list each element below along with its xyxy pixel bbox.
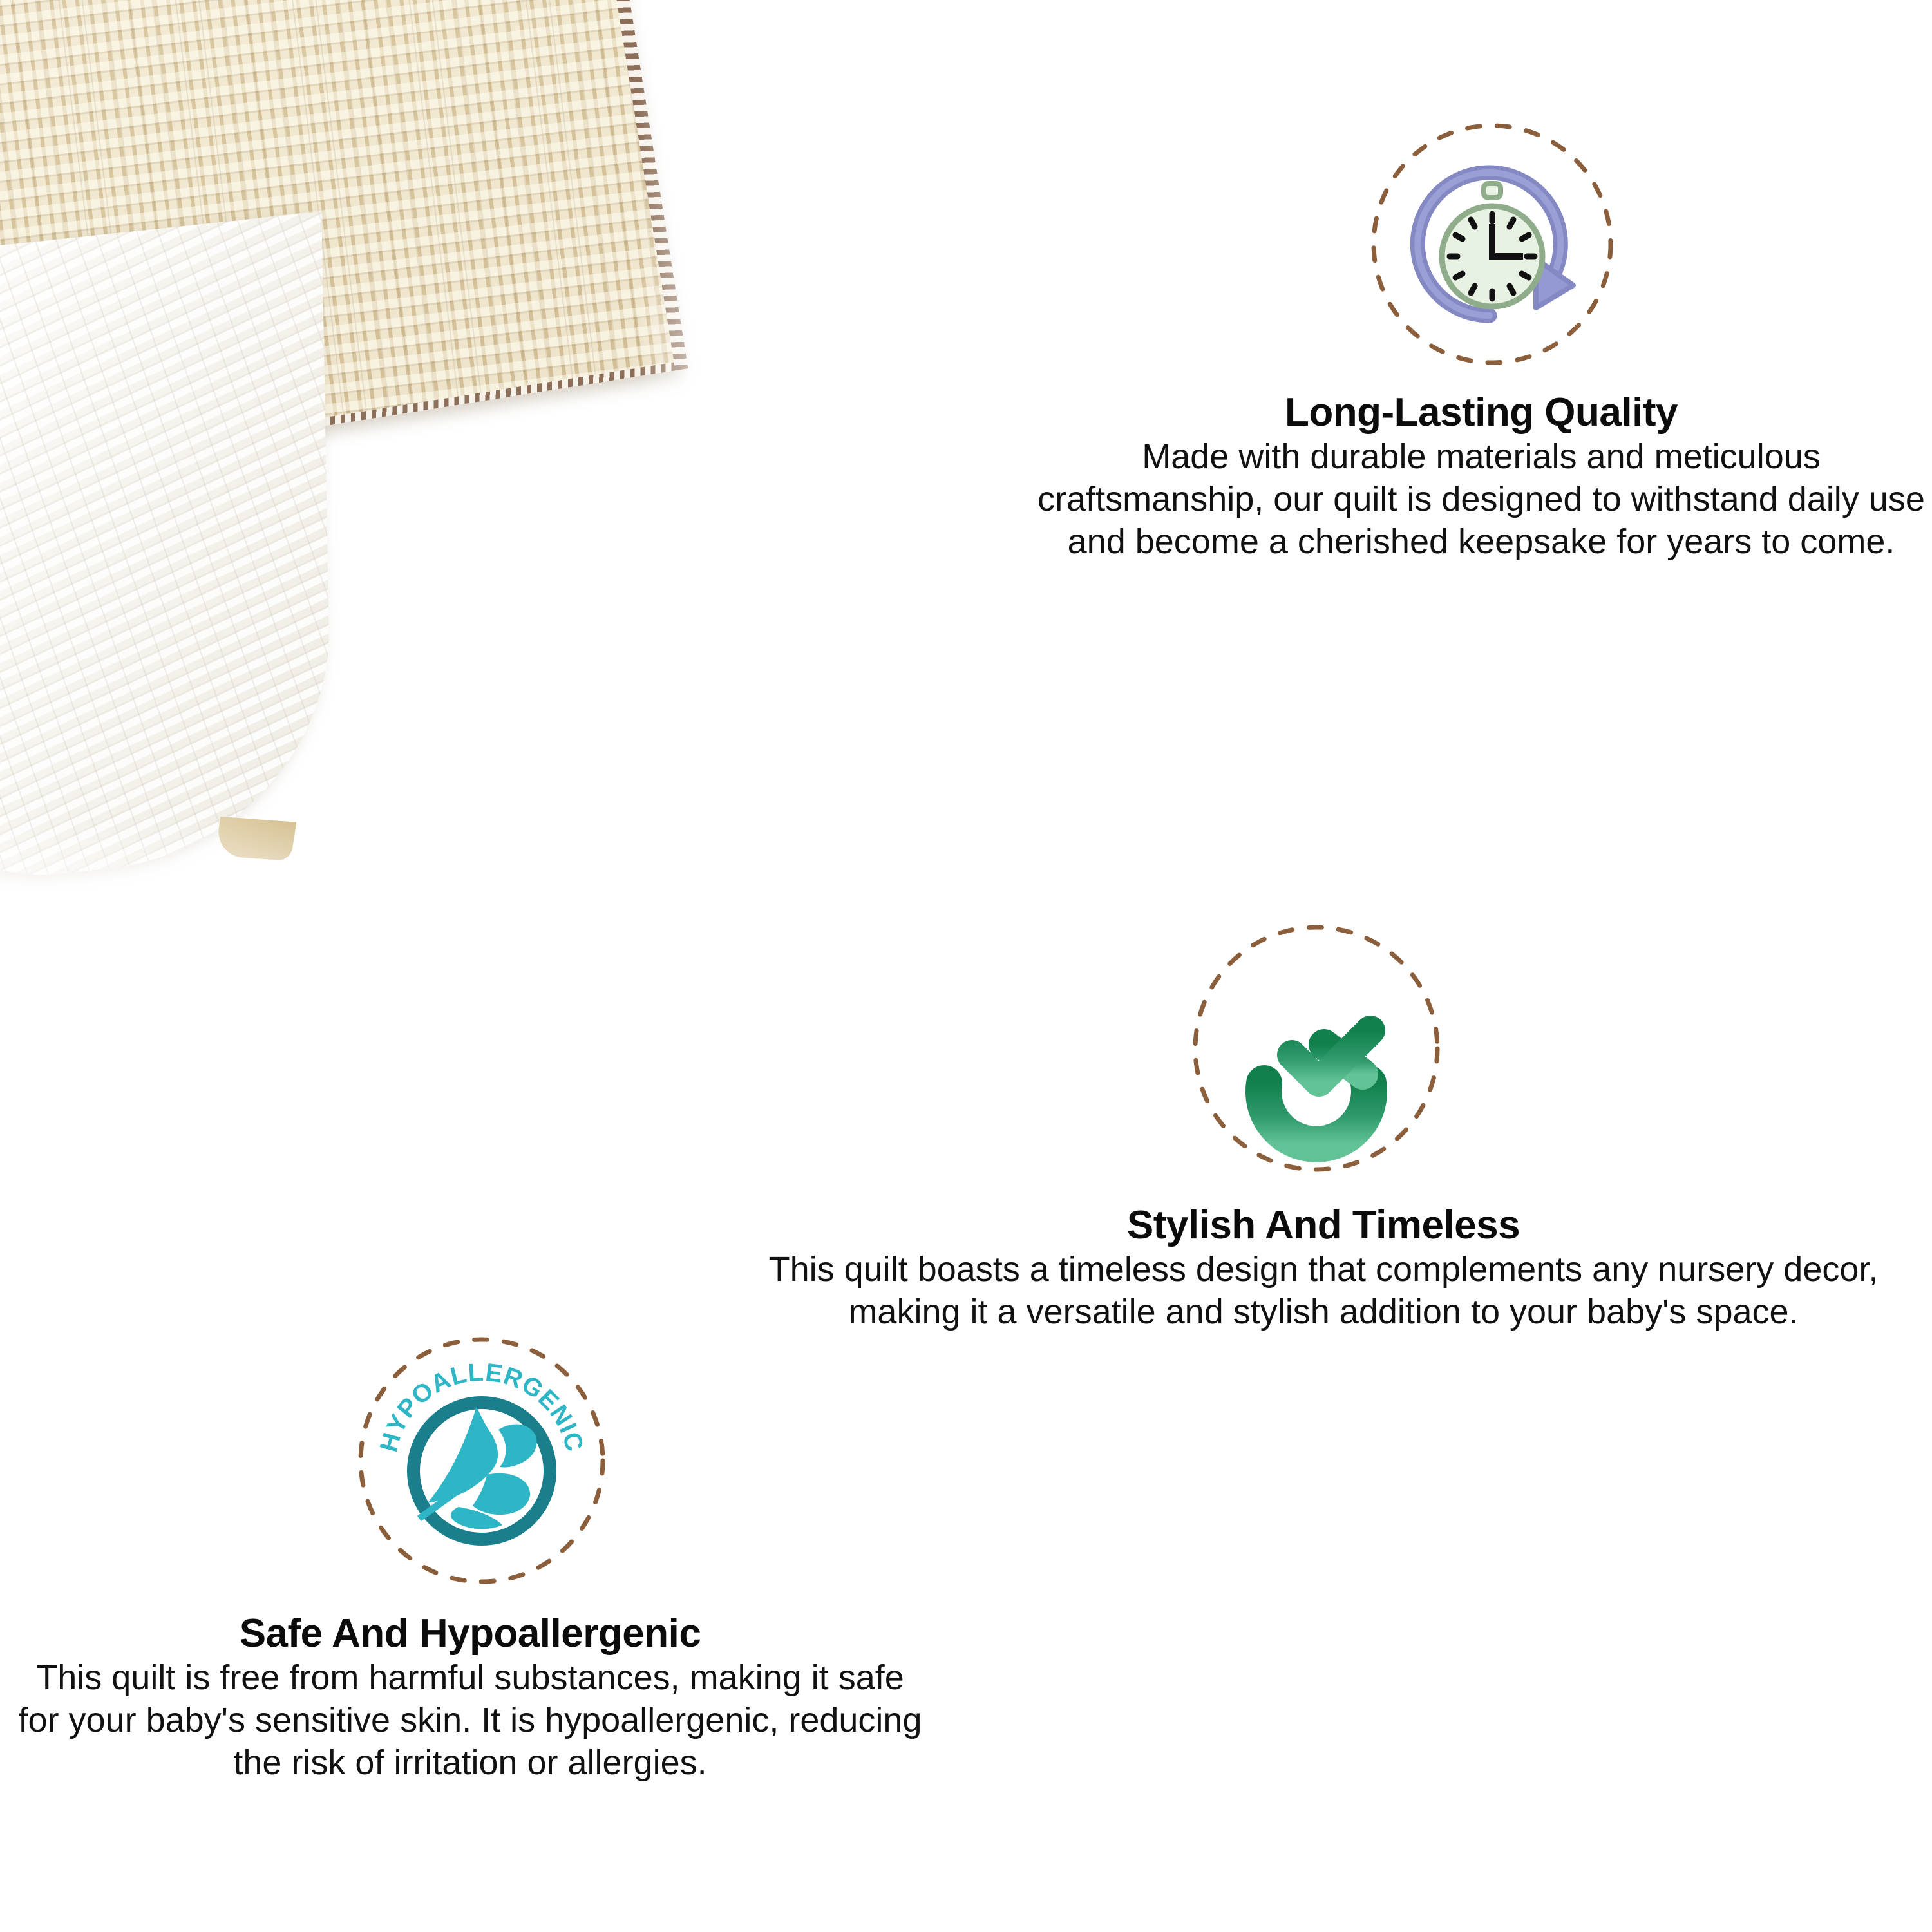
- feature-description-safe: This quilt is free from harmful substanc…: [13, 1657, 927, 1785]
- hypoallergenic-badge-icon: HYPOALLERGENIC: [355, 1334, 608, 1587]
- feature-title-style: Stylish And Timeless: [728, 1204, 1919, 1246]
- feature-text-quality: Long-Lasting Quality Made with durable m…: [1030, 392, 1932, 563]
- feature-title-safe: Safe And Hypoallergenic: [13, 1613, 927, 1654]
- feature-title-quality: Long-Lasting Quality: [1030, 392, 1932, 433]
- feature-description-style: This quilt boasts a timeless design that…: [728, 1249, 1919, 1334]
- hand-check-icon: [1190, 922, 1443, 1175]
- product-image: [0, 0, 760, 953]
- photo-fade-bottom: [0, 818, 760, 953]
- feature-text-style: Stylish And Timeless This quilt boasts a…: [728, 1204, 1919, 1334]
- feature-text-safe: Safe And Hypoallergenic This quilt is fr…: [13, 1613, 927, 1785]
- clock-rotate-icon: [1370, 122, 1614, 366]
- quilt-white-underside: [0, 211, 333, 896]
- feature-description-quality: Made with durable materials and meticulo…: [1030, 436, 1932, 563]
- photo-fade-right: [638, 0, 760, 953]
